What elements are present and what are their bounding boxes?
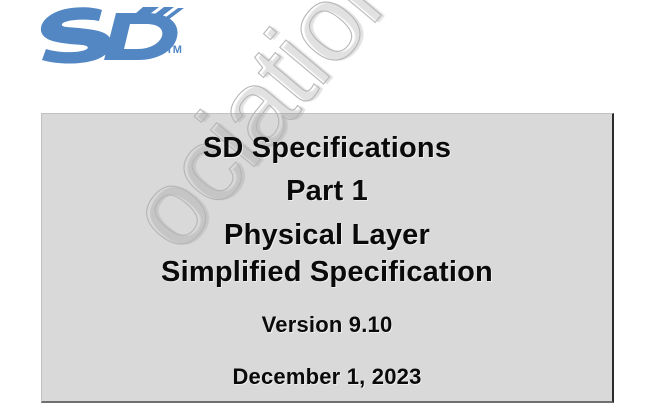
page-title-simplified-specification: Simplified Specification	[42, 256, 612, 289]
publication-date-label: December 1, 2023	[42, 364, 612, 390]
page-title-part: Part 1	[42, 175, 612, 208]
page-title-physical-layer: Physical Layer	[42, 219, 612, 252]
sd-logo-graphic	[38, 4, 188, 66]
version-label: Version 9.10	[42, 312, 612, 338]
sd-logo	[38, 4, 188, 66]
title-block: SD Specifications Part 1 Physical Layer …	[41, 113, 614, 403]
page-title-specifications: SD Specifications	[42, 132, 612, 165]
trademark-icon: TM	[166, 44, 182, 56]
